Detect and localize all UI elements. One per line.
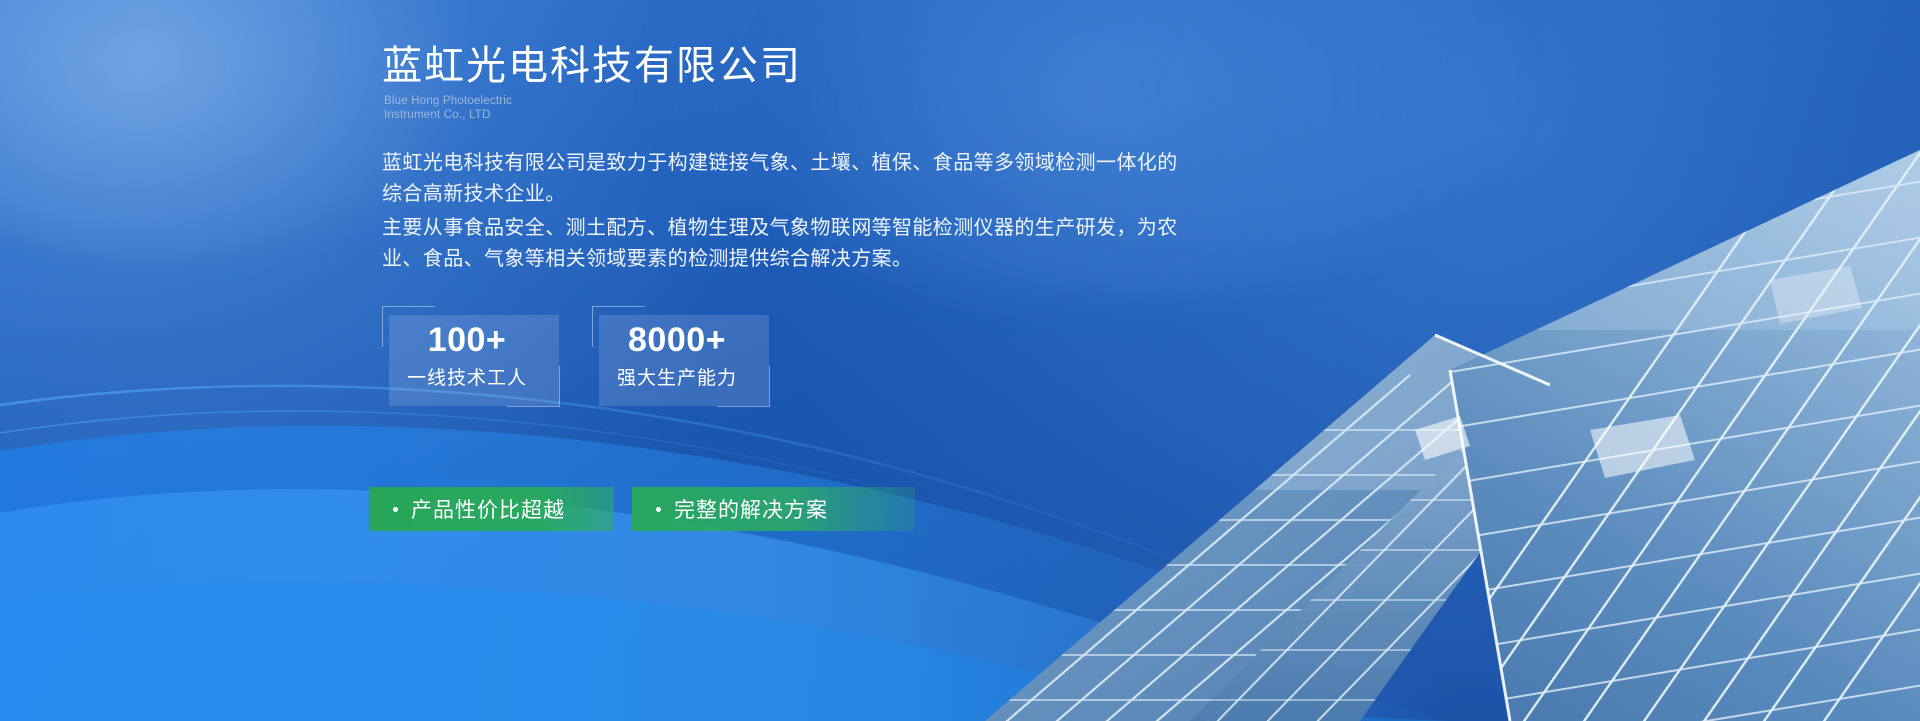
stats-group: 100+ 一线技术工人 8000+ 强大生产能力 [382,306,762,415]
stat-label: 强大生产能力 [592,365,762,393]
stat-card: 8000+ 强大生产能力 [592,306,762,415]
stat-value: 8000+ [592,315,762,365]
bullet-dot-icon [656,507,661,512]
feature-tag[interactable]: 完整的解决方案 [632,487,915,531]
company-subtitle-en: Blue Hong Photoelectric Instrument Co., … [384,94,512,122]
description-paragraph-2: 主要从事食品安全、测土配方、植物生理及气象物联网等智能检测仪器的生产研发，为农业… [382,213,1182,275]
stat-label: 一线技术工人 [382,365,552,393]
feature-tag-label: 产品性价比超越 [411,494,565,524]
subtitle-line-1: Blue Hong Photoelectric [384,94,512,108]
stat-card: 100+ 一线技术工人 [382,306,552,415]
hero-banner: 蓝虹光电科技有限公司 Blue Hong Photoelectric Instr… [0,0,1920,721]
stat-value: 100+ [382,315,552,365]
feature-tag[interactable]: 产品性价比超越 [369,487,614,531]
subtitle-line-2: Instrument Co., LTD [384,108,512,122]
bullet-dot-icon [393,507,398,512]
hero-content: 蓝虹光电科技有限公司 Blue Hong Photoelectric Instr… [382,0,1482,721]
feature-tag-label: 完整的解决方案 [674,494,828,524]
feature-tags-group: 产品性价比超越 完整的解决方案 [369,487,915,531]
description-paragraph-1: 蓝虹光电科技有限公司是致力于构建链接气象、土壤、植保、食品等多领域检测一体化的综… [382,148,1182,210]
company-title: 蓝虹光电科技有限公司 [382,40,802,92]
